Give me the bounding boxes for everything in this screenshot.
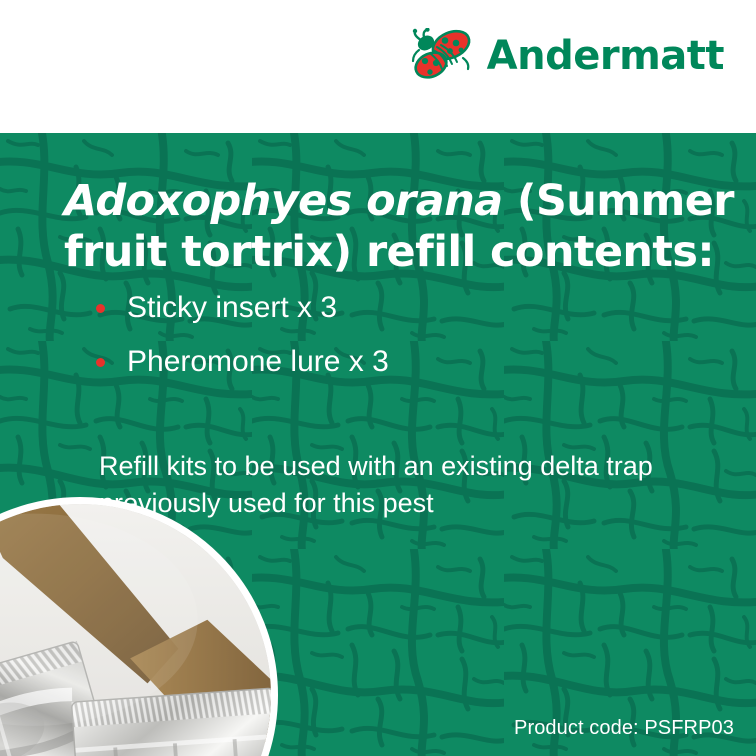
product-poster: Andermatt <box>0 0 756 756</box>
page-title: Adoxophyes orana (Summer fruit tortrix) … <box>64 176 736 277</box>
brand-lockup: Andermatt <box>411 28 724 84</box>
list-item: Pheromone lure x 3 <box>96 343 389 381</box>
ladybug-icon <box>411 28 477 84</box>
usage-note: Refill kits to be used with an existing … <box>99 448 699 521</box>
product-code: Product code: PSFRP03 <box>514 717 734 740</box>
contents-list: Sticky insert x 3 Pheromone lure x 3 <box>96 289 389 398</box>
brand-wordmark: Andermatt <box>487 36 724 76</box>
list-item-label: Pheromone lure x 3 <box>127 343 389 381</box>
species-name: Adoxophyes orana <box>64 176 503 226</box>
bullet-dot-icon <box>96 358 105 367</box>
header-bar: Andermatt <box>0 0 756 133</box>
list-item-label: Sticky insert x 3 <box>127 289 337 327</box>
bullet-dot-icon <box>96 304 105 313</box>
list-item: Sticky insert x 3 <box>96 289 389 327</box>
